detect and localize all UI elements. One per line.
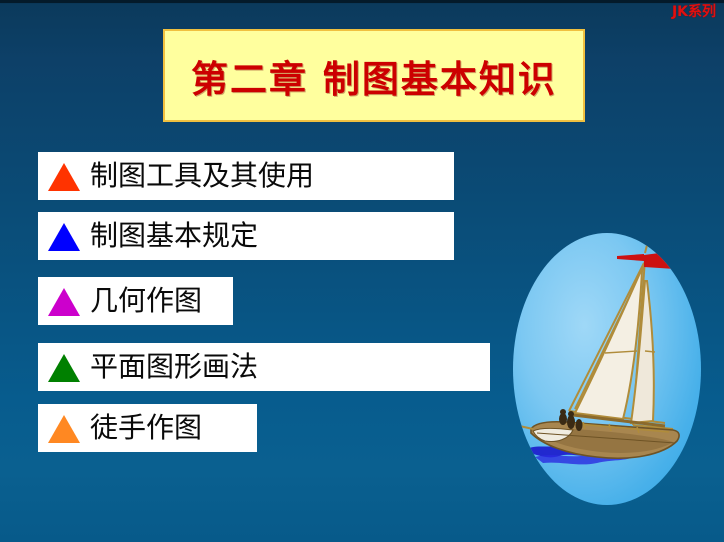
list-item-label: 几何作图 — [90, 285, 202, 317]
triangle-up-icon — [48, 354, 80, 382]
brand-logo: JK系列 — [672, 3, 716, 21]
page-title: 第二章 制图基本知识 — [191, 49, 557, 103]
list-item[interactable]: 几何作图 — [38, 277, 233, 325]
list-item[interactable]: 制图工具及其使用 — [38, 152, 454, 200]
sailboat-graphic — [513, 233, 701, 505]
triangle-up-icon — [48, 163, 80, 191]
slide: JK系列 第二章 制图基本知识 制图工具及其使用 制图基本规定 几何作图 平面图… — [0, 0, 724, 542]
triangle-up-icon — [48, 223, 80, 251]
list-item[interactable]: 徒手作图 — [38, 404, 257, 452]
list-item-label: 平面图形画法 — [90, 351, 258, 383]
sailboat-illustration — [513, 233, 701, 505]
list-item-label: 制图工具及其使用 — [90, 160, 314, 192]
mainsail-shape — [575, 271, 642, 419]
triangle-up-icon — [48, 415, 80, 443]
top-edge-strip — [0, 0, 724, 3]
slide-title-box: 第二章 制图基本知识 — [163, 29, 585, 122]
list-item-label: 徒手作图 — [90, 412, 202, 444]
list-item[interactable]: 制图基本规定 — [38, 212, 454, 260]
list-item-label: 制图基本规定 — [90, 220, 258, 252]
list-item[interactable]: 平面图形画法 — [38, 343, 490, 391]
triangle-up-icon — [48, 288, 80, 316]
